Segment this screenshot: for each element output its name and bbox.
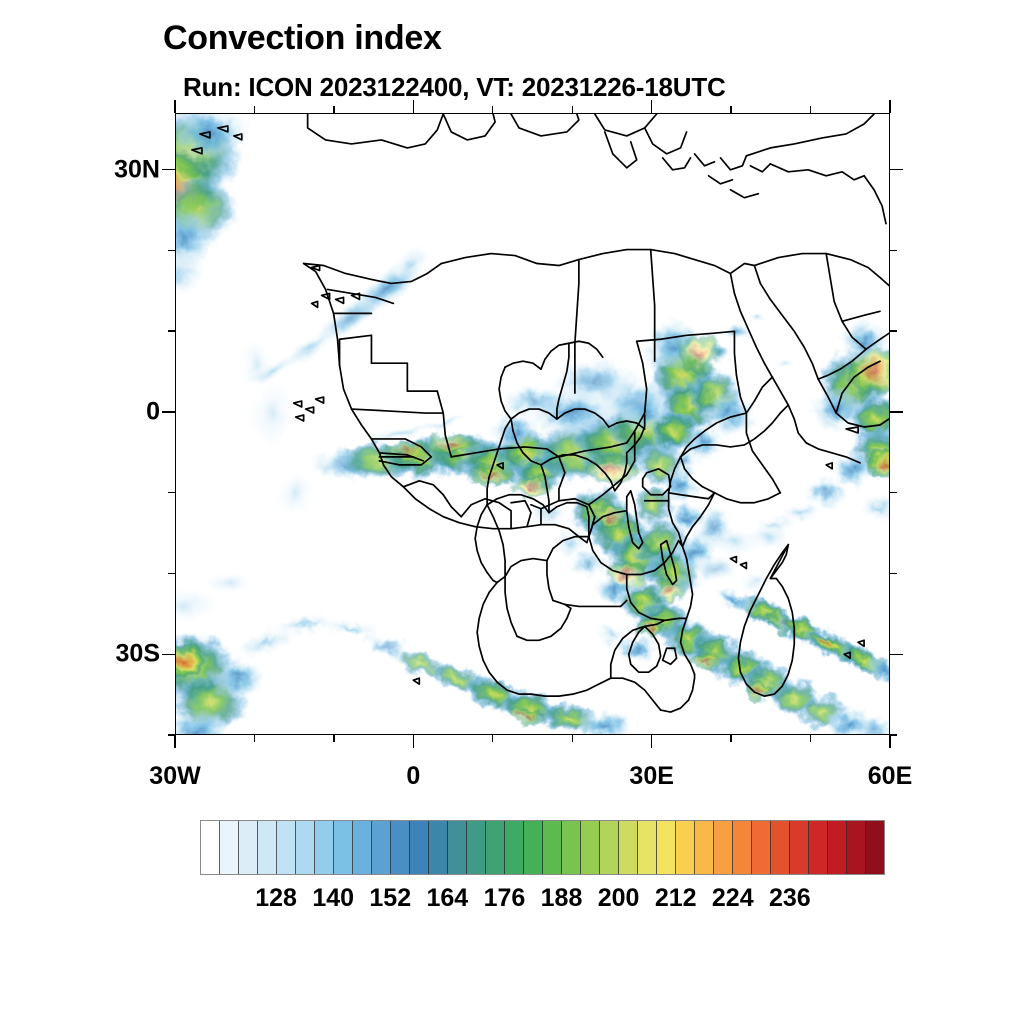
y-tick [168, 492, 175, 493]
colorbar-cell [714, 821, 733, 874]
x-tick [810, 735, 811, 742]
y-tick-right [890, 734, 897, 735]
x-tick [651, 735, 652, 748]
colorbar-cell [486, 821, 505, 874]
colorbar-cell [638, 821, 657, 874]
colorbar-tick-label: 164 [427, 884, 469, 913]
colorbar-cell [258, 821, 277, 874]
colorbar-cell [467, 821, 486, 874]
colorbar-cell [828, 821, 847, 874]
x-tick [254, 735, 255, 742]
colorbar-cell [524, 821, 543, 874]
colorbar-cell [334, 821, 353, 874]
x-tick-top [730, 106, 731, 113]
colorbar-cell [372, 821, 391, 874]
x-axis-label: 0 [406, 762, 420, 791]
map-canvas [176, 114, 889, 734]
colorbar-cell [809, 821, 828, 874]
y-axis-label: 30N [60, 155, 160, 184]
x-tick [333, 735, 334, 742]
colorbar-cell [448, 821, 467, 874]
run-valid-time-subtitle: Run: ICON 2023122400, VT: 20231226-18UTC [183, 72, 726, 103]
map-svg [176, 114, 889, 734]
colorbar-tick-label: 212 [655, 884, 697, 913]
colorbar-cell [315, 821, 334, 874]
x-axis-label: 30W [149, 762, 200, 791]
x-axis-label: 60E [868, 762, 912, 791]
y-axis-label: 30S [60, 640, 160, 669]
map-plot-area [175, 113, 890, 735]
colorbar-tick-label: 236 [769, 884, 811, 913]
y-axis-label: 0 [60, 397, 160, 426]
colorbar-tick-label: 224 [712, 884, 754, 913]
colorbar-cell [771, 821, 790, 874]
colorbar-tick-label: 176 [484, 884, 526, 913]
x-tick-top [810, 106, 811, 113]
colorbar-cell [353, 821, 372, 874]
x-tick [572, 735, 573, 742]
colorbar-cell [619, 821, 638, 874]
x-tick [730, 735, 731, 742]
y-tick [162, 411, 175, 412]
y-tick-right [890, 169, 903, 170]
y-tick [162, 169, 175, 170]
colorbar-cell [277, 821, 296, 874]
x-tick-top [413, 100, 414, 113]
colorbar-cell [562, 821, 581, 874]
x-tick-top [174, 100, 175, 113]
y-tick [168, 573, 175, 574]
colorbar-cell [847, 821, 866, 874]
colorbar-tick-label: 188 [541, 884, 583, 913]
x-tick-top [651, 100, 652, 113]
x-tick [889, 735, 890, 748]
colorbar-cell [676, 821, 695, 874]
colorbar-cell [790, 821, 809, 874]
y-tick-right [890, 573, 897, 574]
convection-index-figure: Convection index Run: ICON 2023122400, V… [0, 0, 1024, 1024]
colorbar-cell [581, 821, 600, 874]
colorbar-cell [410, 821, 429, 874]
colorbar-cell [296, 821, 315, 874]
colorbar-tick-label: 128 [255, 884, 297, 913]
x-axis-label: 30E [629, 762, 673, 791]
y-tick [168, 330, 175, 331]
colorbar-cell [600, 821, 619, 874]
colorbar-cell [505, 821, 524, 874]
colorbar-cell [733, 821, 752, 874]
colorbar-cell [239, 821, 258, 874]
x-tick [174, 735, 175, 748]
colorbar-tick-label: 152 [369, 884, 411, 913]
colorbar-tick-label: 200 [598, 884, 640, 913]
colorbar-cell [429, 821, 448, 874]
colorbar-cell [201, 821, 220, 874]
x-tick [492, 735, 493, 742]
colorbar-cell [220, 821, 239, 874]
colorbar[interactable] [200, 820, 885, 875]
x-tick-top [889, 100, 890, 113]
colorbar-cell [543, 821, 562, 874]
x-tick-top [572, 106, 573, 113]
y-tick-right [890, 654, 903, 655]
colorbar-cell [866, 821, 884, 874]
colorbar-cell [695, 821, 714, 874]
y-tick [168, 250, 175, 251]
x-tick [413, 735, 414, 748]
x-tick-top [333, 106, 334, 113]
y-tick-right [890, 250, 897, 251]
y-tick [168, 734, 175, 735]
page-title: Convection index [163, 19, 442, 58]
y-tick-right [890, 330, 897, 331]
y-tick-right [890, 411, 903, 412]
y-tick [162, 654, 175, 655]
colorbar-cell [657, 821, 676, 874]
colorbar-cell [752, 821, 771, 874]
y-tick-right [890, 492, 897, 493]
colorbar-cell [391, 821, 410, 874]
x-tick-top [492, 106, 493, 113]
colorbar-tick-label: 140 [312, 884, 354, 913]
x-tick-top [254, 106, 255, 113]
